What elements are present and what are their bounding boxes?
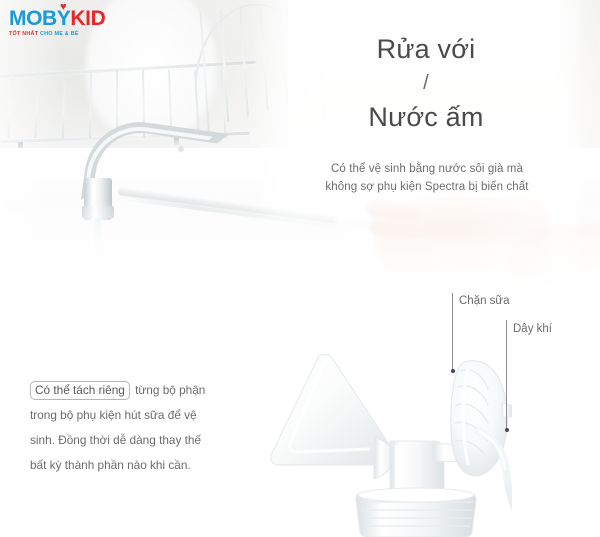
headline-separator: / (300, 68, 552, 98)
headline-line-2: Nước ấm (368, 102, 483, 132)
info-line-3: sinh. Đồng thời dễ dàng thay thế (30, 433, 201, 447)
info-line-2: trong bộ phụ kiện hút sữa để vệ (30, 408, 197, 422)
brand-logo[interactable]: MOBYKID ♥ TỐT NHẤT CHO MẸ & BÉ (9, 8, 105, 37)
info-line-1-rest: từng bộ phận (132, 383, 206, 397)
logo-wordmark: MOBYKID ♥ (9, 8, 105, 29)
page-subtitle: Có thể vệ sinh bằng nước sôi già mà khôn… (296, 160, 558, 196)
logo-tagline-part1: TỐT NHẤT (9, 31, 38, 37)
logo-text-kid: KID (70, 7, 105, 30)
heart-icon: ♥ (60, 3, 69, 12)
page-root: MOBYKID ♥ TỐT NHẤT CHO MẸ & BÉ Rửa với /… (0, 0, 600, 537)
logo-tagline-part2: CHO MẸ & BÉ (40, 31, 79, 37)
callout-day-khi-leader-line (506, 320, 507, 430)
headline-line-1: Rửa với (377, 34, 476, 64)
subtitle-line-2: không sợ phụ kiện Spectra bị biến chất (296, 178, 558, 196)
subtitle-line-1: Có thể vệ sinh bằng nước sôi già mà (296, 160, 558, 178)
highlight-box-label: Có thể tách riêng (30, 381, 130, 400)
callout-day-khi-label: Dây khí (513, 322, 552, 336)
logo-tagline: TỐT NHẤT CHO MẸ & BÉ (9, 32, 105, 37)
page-title: Rửa với / Nước ấm (300, 30, 552, 136)
info-paragraph: Có thể tách riêng từng bộ phận trong bộ … (30, 378, 245, 478)
callout-day-khi-endpoint (505, 428, 509, 432)
info-line-4: bất kỳ thành phần nào khi cần. (30, 458, 191, 472)
